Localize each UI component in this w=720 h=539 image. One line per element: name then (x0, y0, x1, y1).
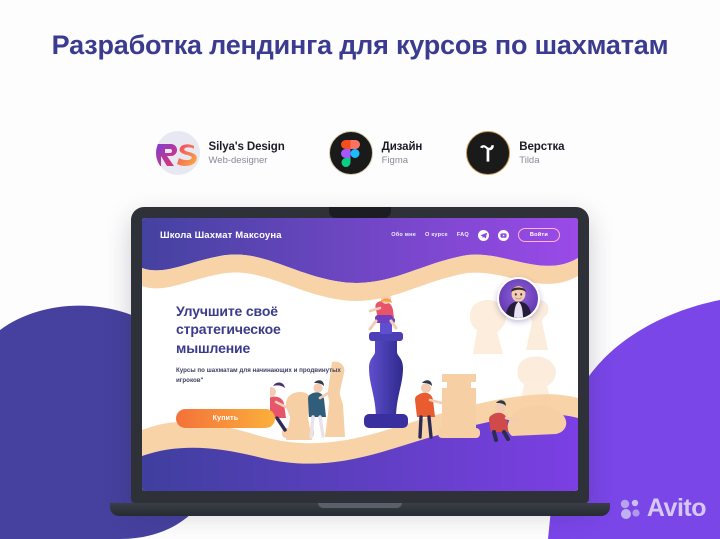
page-title: Разработка лендинга для курсов по шахмат… (40, 28, 680, 63)
website-preview: Школа Шахмат Максоуна Обо мне О курсе FA… (142, 218, 578, 491)
hero-subheading: Курсы по шахматам для начинающих и продв… (176, 366, 354, 385)
credit-text: Верстка Tilda (519, 141, 564, 166)
site-brand[interactable]: Школа Шахмат Максоуна (160, 230, 282, 241)
laptop-mockup: Школа Шахмат Максоуна Обо мне О курсе FA… (131, 207, 589, 516)
credit-text: Дизайн Figma (382, 141, 423, 166)
login-button[interactable]: Войти (518, 228, 560, 242)
bg-piece-king (517, 357, 555, 402)
watermark: Avito (620, 496, 706, 521)
illus-queen-piece (364, 318, 408, 428)
hero-block: Улучшите своё стратегическое мышление Ку… (176, 302, 354, 428)
buy-button[interactable]: Купить (176, 409, 275, 428)
credit-item: Дизайн Figma (329, 131, 423, 175)
figma-icon (329, 131, 373, 175)
credit-name: Дизайн (382, 141, 423, 153)
laptop-base (110, 503, 610, 516)
tilda-icon (466, 131, 510, 175)
page-title-wrap: Разработка лендинга для курсов по шахмат… (0, 28, 720, 63)
credit-name: Верстка (519, 141, 564, 153)
credit-item: Silya's Design Web-designer (156, 131, 285, 175)
site-nav-right: Обо мне О курсе FAQ Войти (391, 228, 560, 242)
laptop-base-notch (318, 503, 402, 508)
credits-row: Silya's Design Web-designer Дизайн Figma (0, 131, 720, 175)
instructor-avatar (497, 277, 540, 320)
hero-heading: Улучшите своё стратегическое мышление (176, 302, 354, 357)
rs-monogram-icon (156, 131, 200, 175)
nav-link-course[interactable]: О курсе (425, 232, 448, 238)
credit-role: Web-designer (209, 155, 285, 166)
nav-link-about[interactable]: Обо мне (391, 232, 416, 238)
telegram-icon[interactable] (478, 230, 489, 241)
nav-link-faq[interactable]: FAQ (457, 232, 469, 238)
credit-name: Silya's Design (209, 141, 285, 153)
laptop-screen: Школа Шахмат Максоуна Обо мне О курсе FA… (142, 218, 578, 491)
credit-role: Figma (382, 155, 423, 166)
illus-person-rook (415, 374, 480, 438)
credit-text: Silya's Design Web-designer (209, 141, 285, 166)
laptop-lid: Школа Шахмат Максоуна Обо мне О курсе FA… (131, 207, 589, 503)
avito-dots-icon (620, 498, 642, 520)
credit-item: Верстка Tilda (466, 131, 564, 175)
laptop-notch (329, 207, 391, 218)
illus-person-crouch (489, 400, 566, 440)
watermark-label: Avito (647, 496, 706, 521)
screenshot-root: Разработка лендинга для курсов по шахмат… (0, 0, 720, 539)
credit-role: Tilda (519, 155, 564, 166)
site-navbar: Школа Шахмат Максоуна Обо мне О курсе FA… (142, 218, 578, 252)
youtube-icon[interactable] (498, 230, 509, 241)
